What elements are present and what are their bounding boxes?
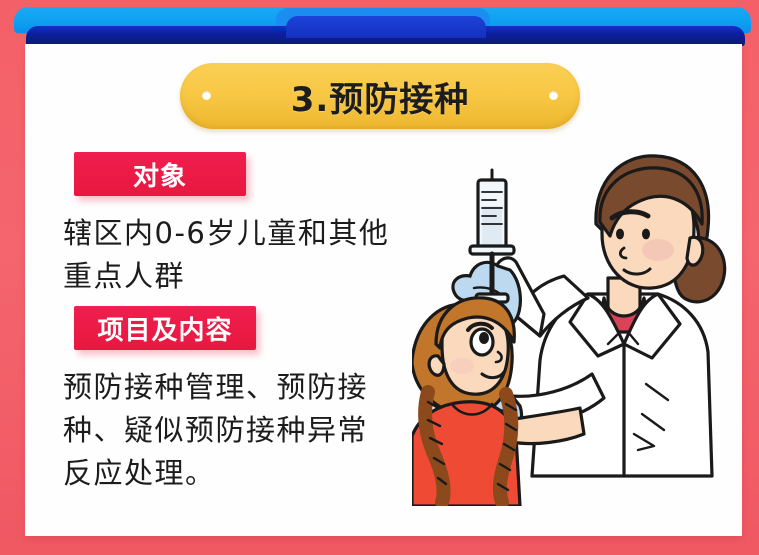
badge-object: 对象 [74,152,246,196]
badge-items-and-content: 项目及内容 [74,306,256,350]
navy-top-bar [26,26,745,46]
child-pupil [479,332,489,344]
content-card: 3.预防接种 对象 辖区内0-6岁儿童和其他 重点人群 项目及内容 预防接种管理… [25,44,742,536]
rivet-dot-right-icon [549,91,558,100]
page-title: 3.预防接种 [291,72,470,121]
content-card-inner: 3.预防接种 对象 辖区内0-6岁儿童和其他 重点人群 项目及内容 预防接种管理… [25,44,742,536]
nurse-eye-left [616,229,624,240]
navy-tab-bump [286,16,486,38]
nurse-vaccinating-child-icon [412,146,742,506]
nurse-cheek-blush [642,239,674,261]
paragraph-items-and-content: 预防接种管理、预防接 种、疑似预防接种异常 反应处理。 [63,366,443,495]
child-cheek-blush [450,358,474,374]
poster-canvas: 3.预防接种 对象 辖区内0-6岁儿童和其他 重点人群 项目及内容 预防接种管理… [0,0,759,555]
nurse-eye-right [642,229,650,240]
rivet-dot-left-icon [202,91,211,100]
section-title-pill: 3.预防接种 [180,63,580,129]
illustration-nurse-vaccinating-child [412,146,742,506]
badge-object-label: 对象 [133,156,187,193]
paragraph-object: 辖区内0-6岁儿童和其他 重点人群 [63,212,463,298]
badge-items-and-content-label: 项目及内容 [97,310,232,347]
nurse-ear [687,237,703,265]
syringe-fluid [482,206,502,246]
child-ear [429,356,444,375]
